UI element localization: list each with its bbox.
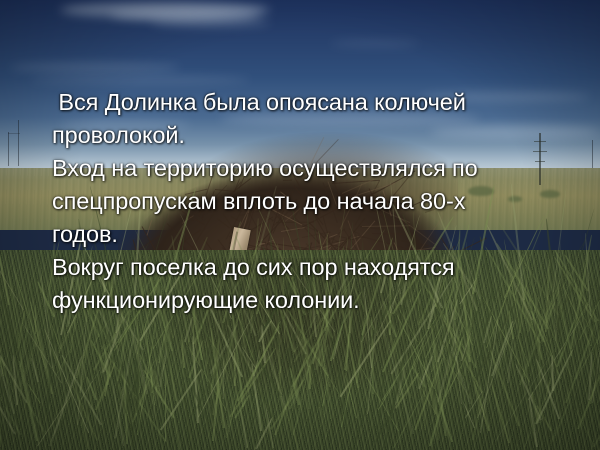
utility-pole bbox=[8, 132, 9, 166]
caption-image: Вся Долинка была опоясана колючей провол… bbox=[0, 0, 600, 450]
caption-line-3: Вход на территорию осуществлялся по bbox=[52, 152, 572, 185]
utility-pole bbox=[18, 120, 19, 166]
cloud-wisp bbox=[330, 40, 420, 47]
caption-line-1: Вся Долинка была опоясана колючей bbox=[52, 86, 572, 119]
caption-line-5: годов. bbox=[52, 218, 572, 251]
cloud-wisp bbox=[10, 63, 180, 72]
cloud-wisp bbox=[150, 18, 270, 27]
caption-line-4: спецпропускам вплоть до начала 80-х bbox=[52, 185, 572, 218]
power-wire bbox=[8, 133, 20, 134]
caption-line-6: Вокруг поселка до сих пор находятся bbox=[52, 251, 572, 284]
caption-text-block: Вся Долинка была опоясана колючей провол… bbox=[52, 86, 572, 317]
caption-line-7: функционирующие колонии. bbox=[52, 284, 572, 317]
utility-pole bbox=[592, 140, 593, 168]
caption-line-2: проволокой. bbox=[52, 119, 572, 152]
cloud-wisp bbox=[30, 76, 250, 84]
